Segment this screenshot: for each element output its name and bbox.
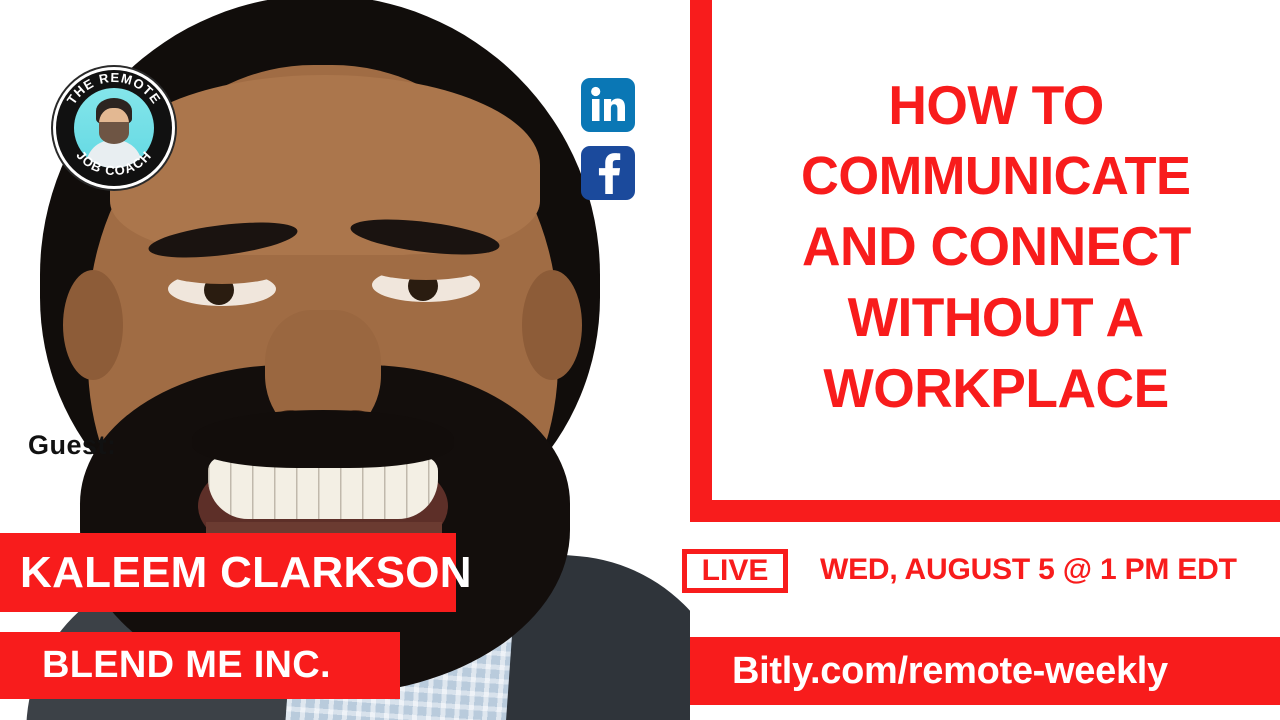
linkedin-icon[interactable] — [581, 78, 635, 132]
portrait-ear-left — [63, 270, 123, 380]
webinar-title-sheet: HOW TO COMMUNICATE AND CONNECT WITHOUT A… — [712, 0, 1280, 500]
title-line-1: HOW TO — [888, 77, 1103, 134]
portrait-forehead — [110, 75, 540, 255]
guest-label: Guest: — [28, 430, 117, 461]
webinar-promo-poster: THE REMOTE JOB COACH Guest: HOW TO COMMU… — [0, 0, 1280, 720]
live-badge: LIVE — [682, 549, 788, 593]
registration-link-banner[interactable]: Bitly.com/remote-weekly — [690, 637, 1280, 705]
portrait-eyelid-left — [164, 258, 280, 284]
title-line-4: WITHOUT A — [848, 289, 1144, 346]
guest-company: BLEND ME INC. — [0, 644, 331, 687]
registration-link-text[interactable]: Bitly.com/remote-weekly — [690, 650, 1168, 693]
live-badge-label: LIVE — [702, 556, 769, 586]
guest-name: KALEEM CLARKSON — [0, 548, 472, 598]
title-line-3: AND CONNECT — [802, 218, 1191, 275]
event-datetime: WED, AUGUST 5 @ 1 PM EDT — [820, 553, 1237, 587]
guest-company-banner: BLEND ME INC. — [0, 632, 400, 699]
svg-text:JOB COACH: JOB COACH — [73, 148, 154, 179]
the-remote-job-coach-logo: THE REMOTE JOB COACH — [56, 70, 172, 186]
title-line-2: COMMUNICATE — [801, 148, 1190, 204]
guest-name-banner: KALEEM CLARKSON — [0, 533, 456, 612]
logo-bottom-text: JOB COACH — [73, 148, 154, 179]
portrait-mustache — [192, 410, 454, 468]
logo-bottom-arc-text: JOB COACH — [56, 70, 172, 186]
portrait-ear-right — [522, 270, 582, 380]
portrait-eyelid-right — [368, 254, 484, 280]
webinar-title-box: HOW TO COMMUNICATE AND CONNECT WITHOUT A… — [690, 0, 1280, 522]
facebook-icon[interactable] — [581, 146, 635, 200]
title-line-5: WORKPLACE — [823, 360, 1168, 417]
